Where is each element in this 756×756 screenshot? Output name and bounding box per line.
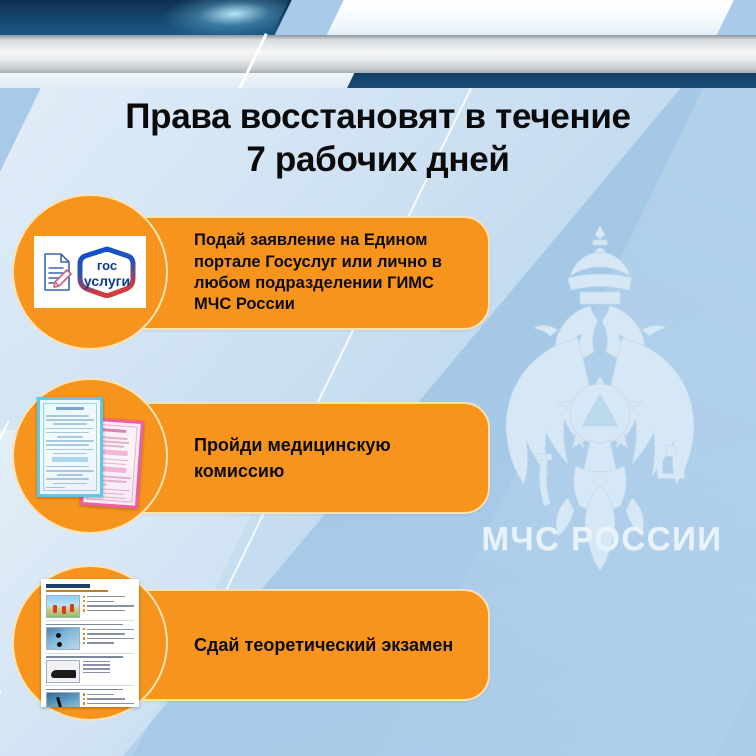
header-white-band-right [326,0,734,36]
step-3-pill: Сдай теоретический экзамен [120,589,490,701]
step-2-pill: Пройди медицинскую комиссию [120,402,490,514]
step-1-pill: Подай заявление на Едином портале Госусл… [120,216,490,330]
step-2-icon-circle [12,378,168,534]
gosuslugi-text-top: гос [97,258,117,273]
step-2-text: Пройди медицинскую комиссию [194,432,472,484]
gosuslugi-logo-icon: гос услуги [34,236,146,308]
step-3-icon-circle [12,565,168,721]
exam-ticket-icon [41,579,139,707]
medical-certificates-icon [25,391,155,521]
gosuslugi-hexagon-icon: гос услуги [76,245,138,299]
title-line-2: 7 рабочих дней [0,139,756,182]
title-line-1: Права восстановят в течение [125,97,630,136]
page-title: Права восстановят в течение 7 рабочих дн… [0,96,756,181]
gosuslugi-text-bottom: услуги [84,273,130,289]
step-1-text: Подай заявление на Едином портале Госусл… [194,230,472,316]
header-navy-band-bottom [346,73,756,88]
step-1-icon-circle: гос услуги [12,194,168,350]
step-3: Сдай теоретический экзамен [0,565,756,725]
poster-canvas: Права восстановят в течение 7 рабочих дн… [0,0,756,756]
header-silver-band [0,35,756,75]
header-white-band-bottom [0,73,364,88]
step-1: Подай заявление на Едином портале Госусл… [0,194,756,354]
step-2: Пройди медицинскую комиссию [0,378,756,538]
document-pencil-icon [42,252,72,292]
header-ribbon [0,0,756,88]
medical-certificate-front [37,397,103,497]
step-3-text: Сдай теоретический экзамен [194,632,453,658]
header-navy-band-left [0,0,299,36]
